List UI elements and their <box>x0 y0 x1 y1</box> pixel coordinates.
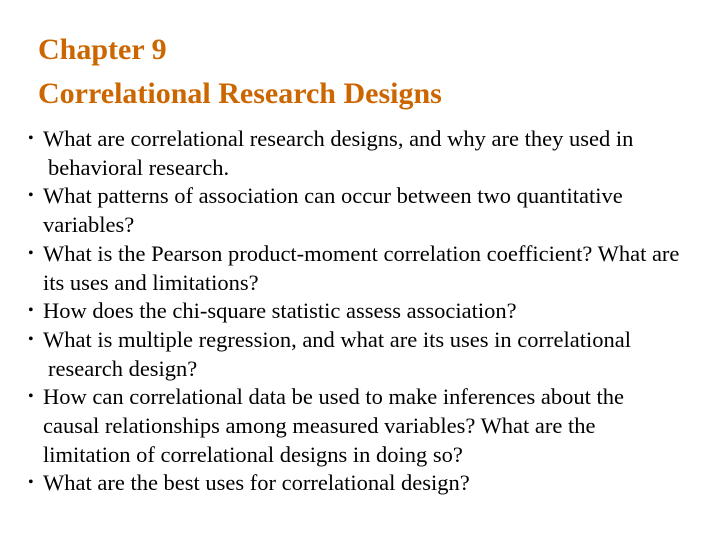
list-item: • What patterns of association can occur… <box>28 182 708 239</box>
list-item-text: What are the best uses for correlational… <box>43 469 703 498</box>
list-item-text: How can correlational data be used to ma… <box>43 383 674 469</box>
list-item-text: How does the chi-square statistic assess… <box>43 297 703 326</box>
list-item: • How can correlational data be used to … <box>28 383 708 469</box>
presentation-slide: Chapter 9 Correlational Research Designs… <box>0 0 719 539</box>
list-item-text: What are correlational research designs,… <box>43 125 693 182</box>
bullet-point-icon: • <box>28 383 40 412</box>
bullet-point-icon: • <box>28 240 40 269</box>
bullet-point-icon: • <box>28 125 40 154</box>
slide-title-line-1: Chapter 9 <box>38 28 688 72</box>
bullet-point-icon: • <box>28 297 40 326</box>
list-item: • What are correlational research design… <box>28 125 708 182</box>
list-item: • What is the Pearson product-moment cor… <box>28 240 708 297</box>
list-item-text: What is the Pearson product-moment corre… <box>43 240 698 297</box>
bullet-list: • What are correlational research design… <box>28 125 708 498</box>
list-item: • How does the chi-square statistic asse… <box>28 297 708 326</box>
slide-title: Chapter 9 Correlational Research Designs <box>38 28 688 116</box>
bullet-point-icon: • <box>28 326 40 355</box>
list-item: • What is multiple regression, and what … <box>28 326 708 383</box>
list-item: • What are the best uses for correlation… <box>28 469 708 498</box>
bullet-point-icon: • <box>28 469 40 498</box>
slide-title-line-2: Correlational Research Designs <box>38 72 688 116</box>
bullet-point-icon: • <box>28 182 40 211</box>
list-item-text: What patterns of association can occur b… <box>43 182 683 239</box>
list-item-text: What is multiple regression, and what ar… <box>43 326 686 383</box>
